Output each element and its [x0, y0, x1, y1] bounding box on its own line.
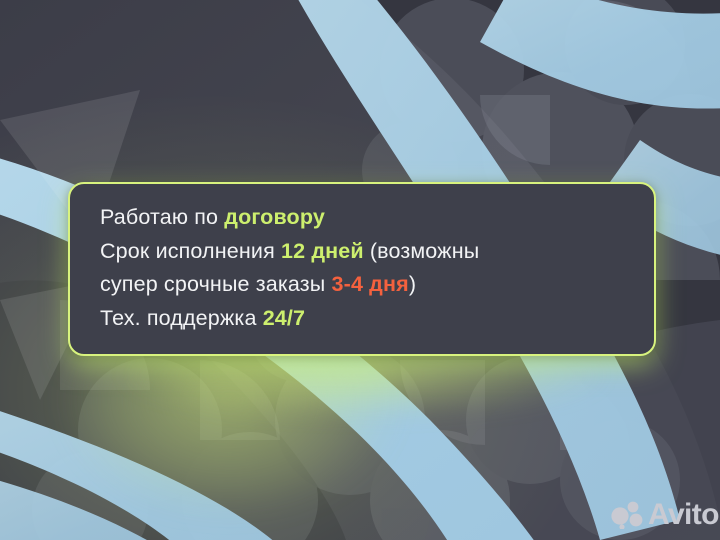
avito-logo: Avito — [611, 500, 719, 530]
line-urgent-seg-0: супер срочные заказы — [100, 272, 332, 296]
info-card: Работаю по договору Срок исполнения 12 д… — [68, 182, 656, 356]
line-term-seg-2: (возможны — [364, 239, 480, 263]
avito-wordmark: Avito — [648, 500, 719, 530]
text-line-contract: Работаю по договору — [100, 201, 636, 235]
line-support-seg-1: 24/7 — [263, 306, 305, 330]
text-line-urgent: супер срочные заказы 3-4 дня) — [100, 268, 636, 302]
avito-dots-icon — [611, 501, 643, 529]
line-term-seg-0: Срок исполнения — [100, 239, 281, 263]
line-contract-seg-1: договору — [224, 205, 325, 229]
line-support-seg-0: Тех. поддержка — [100, 306, 263, 330]
line-term-seg-1: 12 дней — [281, 239, 364, 263]
line-urgent-seg-2: ) — [409, 272, 416, 296]
line-contract-seg-0: Работаю по — [100, 205, 224, 229]
promo-banner: Работаю по договору Срок исполнения 12 д… — [0, 0, 720, 540]
text-line-support: Тех. поддержка 24/7 — [100, 302, 636, 336]
text-line-term: Срок исполнения 12 дней (возможны — [100, 235, 636, 269]
line-urgent-seg-1: 3-4 дня — [332, 272, 409, 296]
info-card-text: Работаю по договору Срок исполнения 12 д… — [100, 201, 636, 335]
